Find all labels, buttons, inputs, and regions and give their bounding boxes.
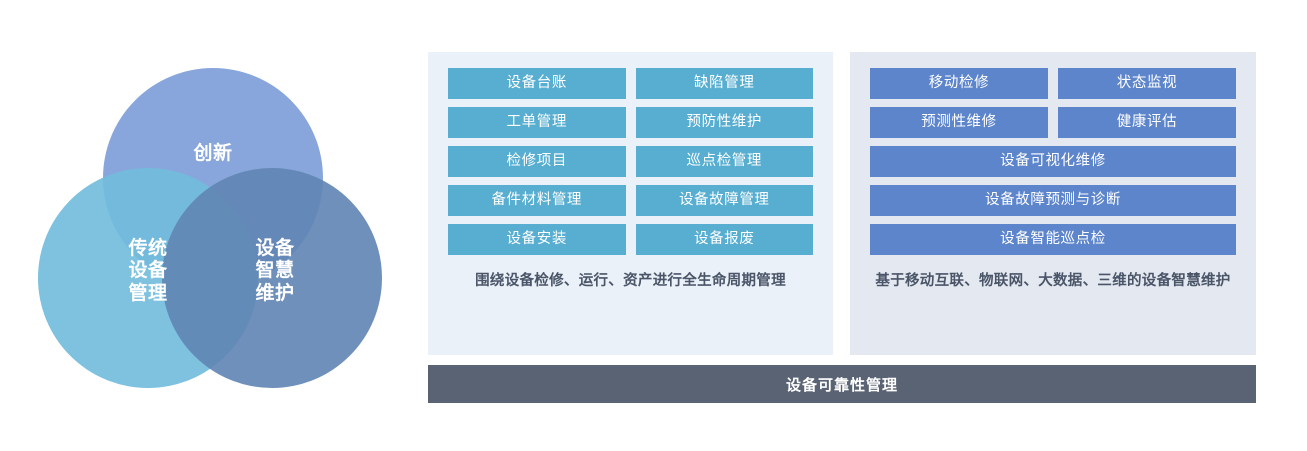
feature-box-grid-traditional: 设备台账 缺陷管理 工单管理 预防性维护 检修项目 巡点检管理 备件材料管理 设… (448, 68, 813, 255)
feature-box[interactable]: 预测性维修 (870, 107, 1048, 138)
panels-area: 设备台账 缺陷管理 工单管理 预防性维护 检修项目 巡点检管理 备件材料管理 设… (428, 0, 1256, 451)
box-row: 设备故障预测与诊断 (870, 185, 1236, 216)
panel-smart-equipment-maintenance: 移动检修 状态监视 预测性维修 健康评估 设备可视化维修 设备故障预测与诊断 设… (850, 52, 1256, 355)
feature-box[interactable]: 设备智能巡点检 (870, 224, 1236, 255)
feature-box[interactable]: 缺陷管理 (636, 68, 814, 99)
feature-box[interactable]: 健康评估 (1058, 107, 1236, 138)
box-row: 预测性维修 健康评估 (870, 107, 1236, 138)
feature-box[interactable]: 移动检修 (870, 68, 1048, 99)
feature-box[interactable]: 设备可视化维修 (870, 146, 1236, 177)
feature-box[interactable]: 设备报废 (636, 224, 814, 255)
box-row: 备件材料管理 设备故障管理 (448, 185, 813, 216)
bottom-banner: 设备可靠性管理 (428, 365, 1256, 403)
box-row: 设备台账 缺陷管理 (448, 68, 813, 99)
venn-circle-smart (162, 168, 382, 388)
feature-box[interactable]: 巡点检管理 (636, 146, 814, 177)
box-row: 工单管理 预防性维护 (448, 107, 813, 138)
panel-caption-smart: 基于移动互联、物联网、大数据、三维的设备智慧维护 (870, 271, 1236, 293)
feature-box[interactable]: 设备台账 (448, 68, 626, 99)
feature-box[interactable]: 备件材料管理 (448, 185, 626, 216)
box-row: 设备安装 设备报废 (448, 224, 813, 255)
feature-box[interactable]: 设备安装 (448, 224, 626, 255)
venn-circles-svg (0, 0, 420, 451)
feature-box[interactable]: 设备故障管理 (636, 185, 814, 216)
box-row: 移动检修 状态监视 (870, 68, 1236, 99)
box-row: 设备智能巡点检 (870, 224, 1236, 255)
bottom-banner-label: 设备可靠性管理 (786, 374, 898, 395)
panel-caption-traditional: 围绕设备检修、运行、资产进行全生命周期管理 (448, 271, 813, 293)
panel-traditional-equipment-management: 设备台账 缺陷管理 工单管理 预防性维护 检修项目 巡点检管理 备件材料管理 设… (428, 52, 833, 355)
box-row: 检修项目 巡点检管理 (448, 146, 813, 177)
feature-box[interactable]: 检修项目 (448, 146, 626, 177)
feature-box[interactable]: 状态监视 (1058, 68, 1236, 99)
feature-box[interactable]: 预防性维护 (636, 107, 814, 138)
box-row: 设备可视化维修 (870, 146, 1236, 177)
feature-box[interactable]: 工单管理 (448, 107, 626, 138)
feature-box-grid-smart: 移动检修 状态监视 预测性维修 健康评估 设备可视化维修 设备故障预测与诊断 设… (870, 68, 1236, 255)
venn-diagram: 创新 传统 设备 管理 设备 智慧 维护 (0, 0, 420, 451)
feature-box[interactable]: 设备故障预测与诊断 (870, 185, 1236, 216)
